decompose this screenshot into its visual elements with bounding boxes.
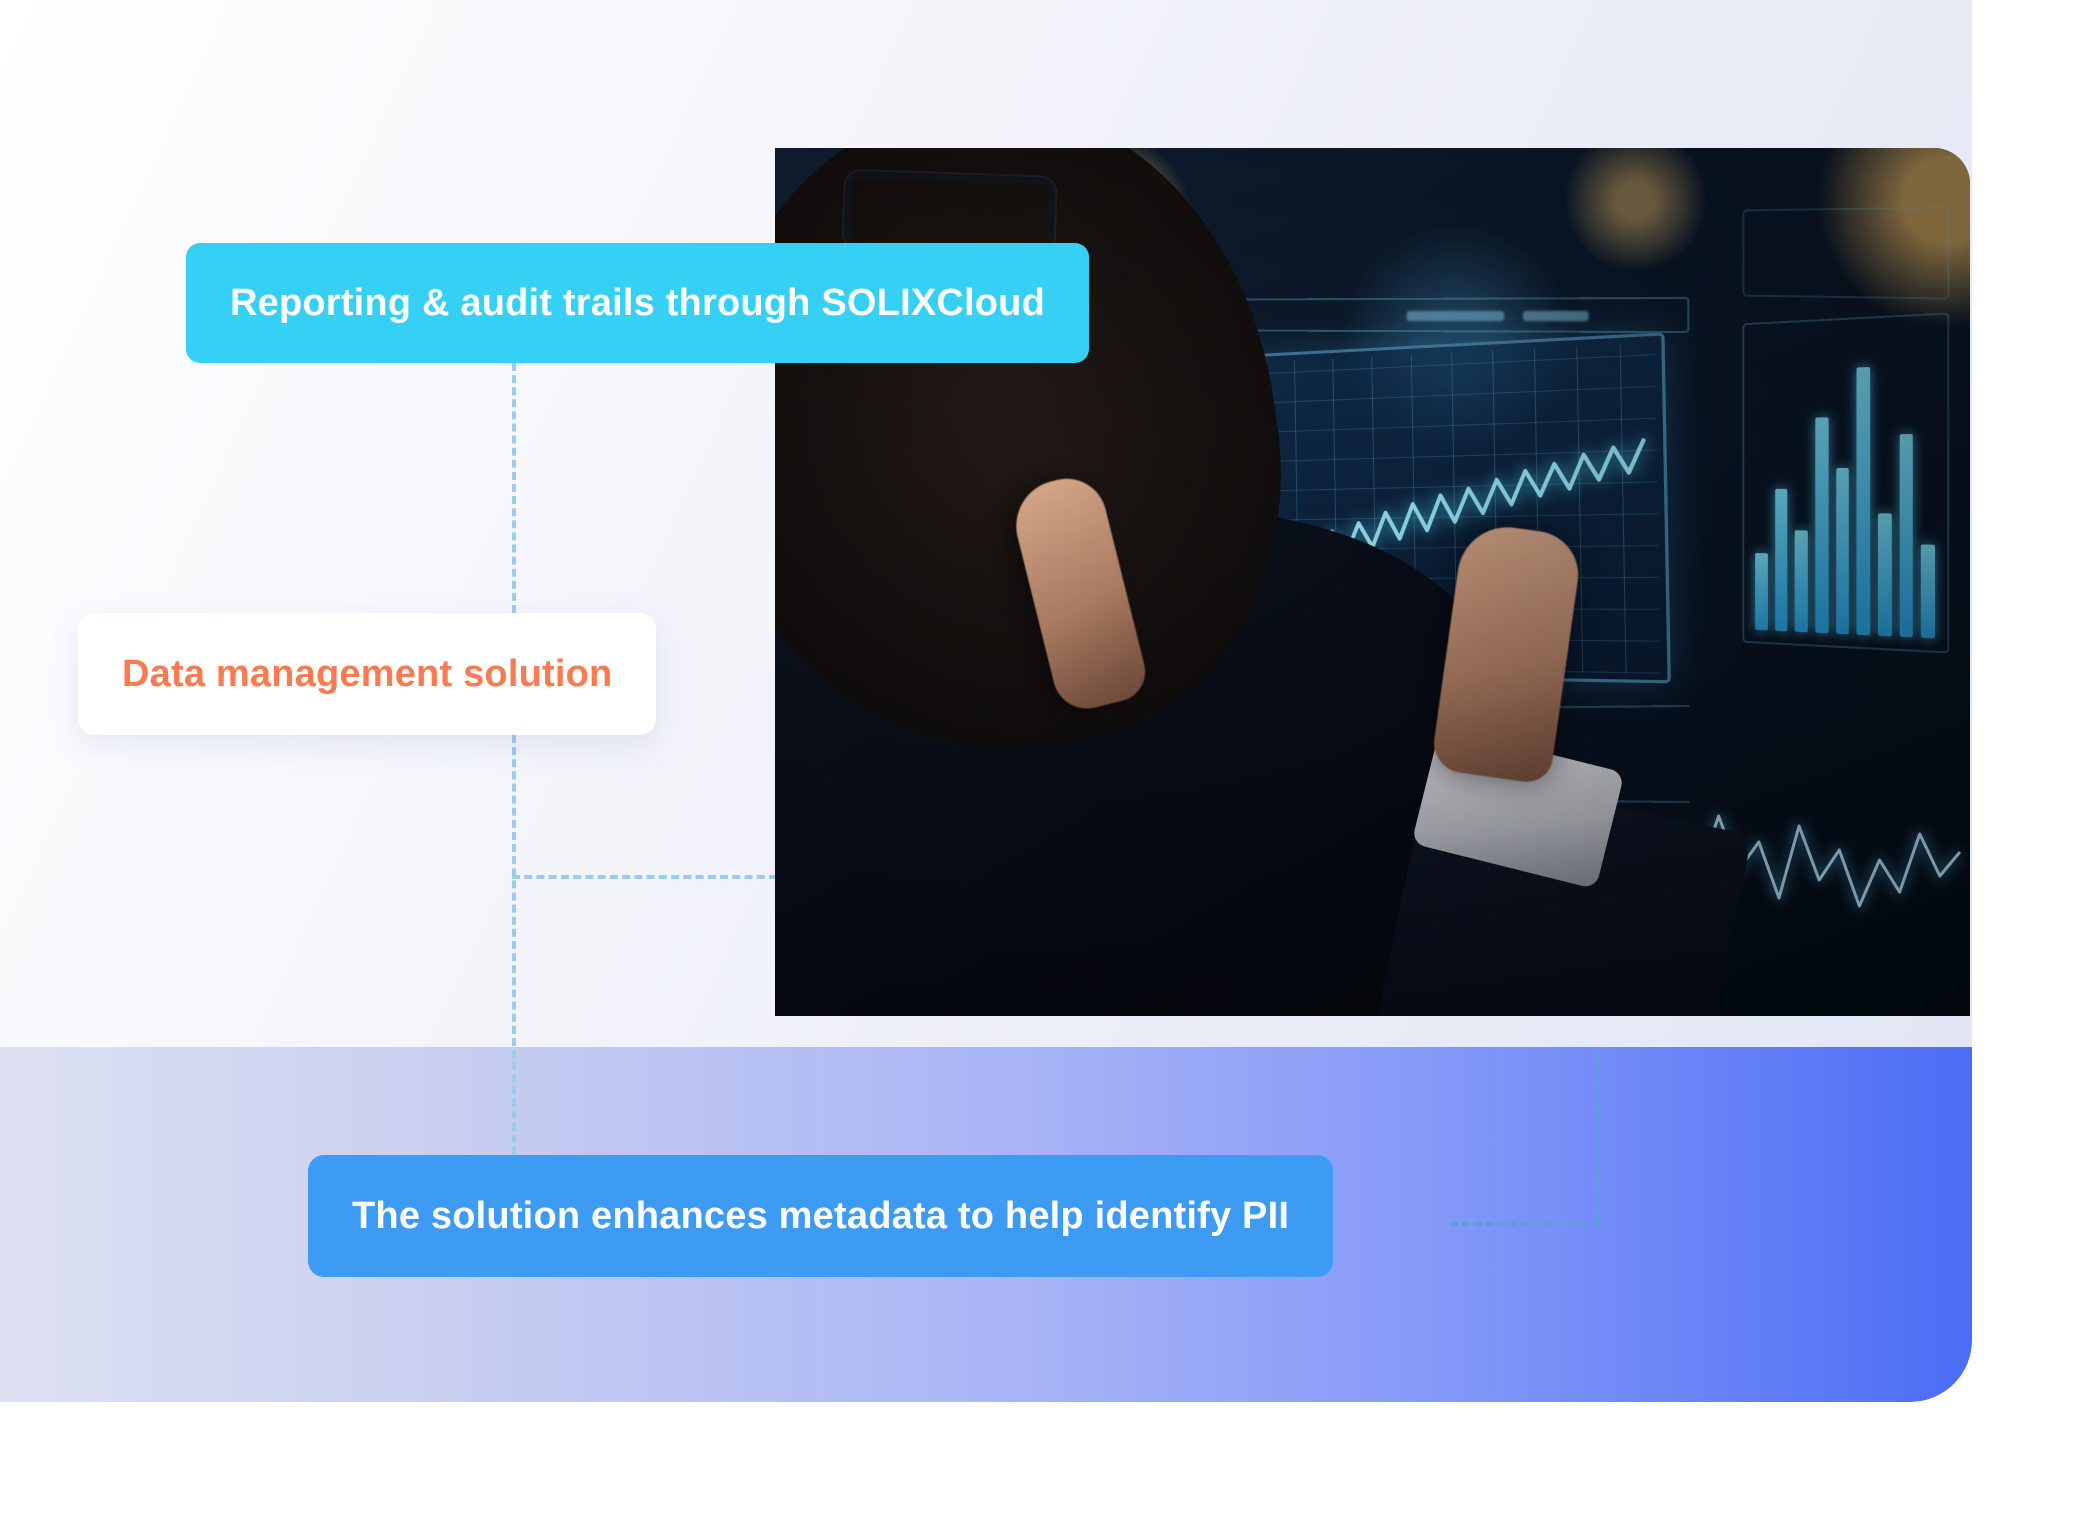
callout-label-text: Reporting & audit trails through SOLIXCl…: [230, 282, 1045, 325]
photo-side-panel-top: [1742, 206, 1949, 299]
callout-label-text: Data management solution: [122, 653, 612, 696]
callout-label-text: The solution enhances metadata to help i…: [352, 1195, 1289, 1238]
connector-vertical-main: [512, 363, 516, 613]
callout-metadata-pii[interactable]: The solution enhances metadata to help i…: [308, 1155, 1333, 1277]
connector-vertical-lower: [512, 735, 516, 1155]
photo-bar-chart: [1742, 312, 1949, 653]
callout-reporting-audit-trails[interactable]: Reporting & audit trails through SOLIXCl…: [186, 243, 1089, 363]
connector-vertical-right: [1596, 1052, 1600, 1224]
callout-data-management-solution[interactable]: Data management solution: [78, 613, 656, 735]
composition-root: 2041se Dafaunt Gamep 1,503,00s Nadbop Pe…: [0, 0, 2082, 1515]
connector-horizontal-right: [1450, 1222, 1600, 1226]
connector-horizontal-to-photo: [512, 875, 777, 879]
